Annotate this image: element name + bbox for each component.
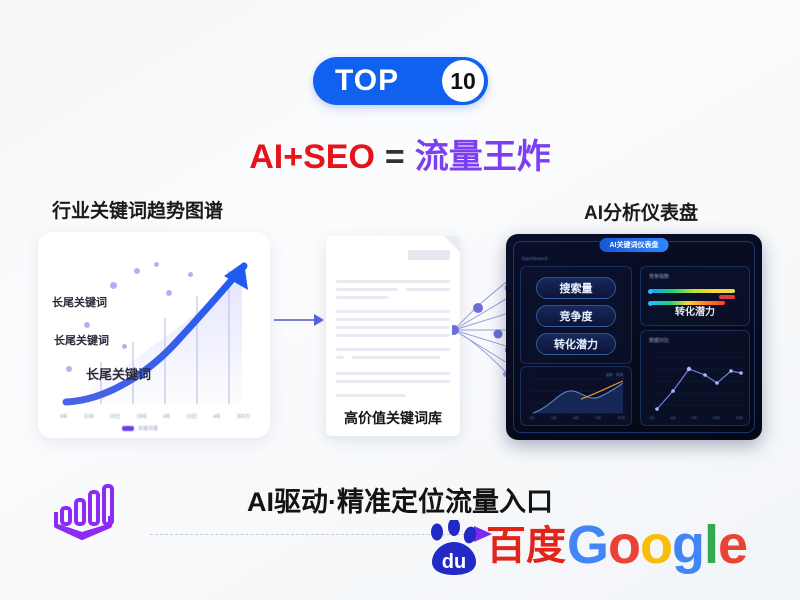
document-text-line	[336, 318, 450, 321]
document-text-line	[336, 394, 406, 397]
headline-right: 流量王炸	[415, 138, 551, 176]
legend-label: 关键词量	[138, 425, 158, 432]
top-badge-label: TOP	[335, 66, 399, 96]
keyword-trend-card: 长尾关键词 长尾关键词 长尾关键词 4年 33年 20亿 18年 4年 10亿 …	[38, 232, 270, 438]
document-text-line	[336, 280, 450, 283]
google-letter-g1: G	[567, 515, 608, 575]
axis-tick: 1月	[649, 416, 654, 421]
baidu-mark-text: du	[442, 551, 466, 573]
document-text-line	[336, 326, 450, 329]
document-text-line	[406, 288, 450, 291]
flow-arrow-icon	[274, 313, 324, 327]
axis-tick: 300万	[237, 413, 250, 420]
trend-dot	[188, 272, 193, 277]
trend-forecast-panel: 趋势 · 预测 1月 3月 6月 9月 12月	[520, 366, 632, 426]
competition-index-title: 竞争指数	[649, 273, 669, 280]
metric-pill-conversion-potential[interactable]: 转化潜力	[536, 333, 616, 355]
google-letter-l: l	[704, 515, 718, 575]
line-axis-ticks: 1月 4月 7月 10月 12月	[649, 416, 743, 421]
data-comparison-panel: 数据对比 1月 4月 7月 10月	[640, 330, 750, 426]
headline-equals: =	[385, 138, 405, 176]
trend-axis-ticks: 4年 33年 20亿 18年 4年 10亿 4年 300万	[60, 413, 250, 420]
bar-marker-dot	[648, 289, 653, 294]
google-letter-o2: o	[640, 515, 672, 575]
top-badge-rank: 10	[442, 60, 484, 102]
document-header-chip	[408, 250, 450, 260]
bar-highlight-chip	[719, 295, 735, 299]
metric-pill-search-volume[interactable]: 搜索量	[536, 277, 616, 299]
axis-tick: 12月	[736, 416, 743, 421]
trend-keyword-label: 长尾关键词	[86, 364, 151, 383]
axis-tick: 18年	[136, 413, 147, 420]
trend-dot	[122, 344, 127, 349]
left-section-caption: 行业关键词趋势图谱	[52, 196, 223, 223]
trend-dot	[66, 366, 72, 372]
baidu-paw-icon: du	[424, 520, 484, 578]
trend-dot	[154, 262, 159, 267]
axis-tick: 10月	[712, 416, 719, 421]
legend-swatch	[122, 426, 134, 431]
conversion-overlay-label: 转化潜力	[641, 303, 749, 318]
headline-left: AI+SEO	[249, 138, 375, 176]
metric-pill-competition[interactable]: 竞争度	[536, 305, 616, 327]
document-text-line	[336, 372, 450, 375]
axis-tick: 9月	[595, 416, 600, 421]
document-text-line	[336, 348, 450, 351]
document-text-line	[352, 356, 440, 359]
axis-tick: 1月	[529, 416, 534, 421]
document-text-line	[336, 380, 450, 383]
document-text-line	[336, 288, 398, 291]
ai-dashboard-card: AI关键词仪表盘 Dashboard 搜索量 竞争度 转化潜力 竞争指数 转化潜…	[506, 234, 762, 440]
document-text-line	[336, 310, 450, 313]
competition-index-panel: 竞争指数 转化潜力	[640, 266, 750, 326]
axis-tick: 33年	[84, 413, 95, 420]
area-legend: 趋势 · 预测	[606, 373, 623, 378]
top-rank-badge: TOP 10	[313, 57, 488, 105]
axis-tick: 6月	[573, 416, 578, 421]
google-letter-o1: o	[608, 515, 640, 575]
trend-dot	[110, 282, 117, 289]
axis-tick: 4年	[163, 413, 171, 420]
keyword-library-document: 高价值关键词库	[326, 236, 460, 436]
poster-canvas: TOP 10 AI+SEO=流量王炸 行业关键词趋势图谱 AI分析仪表盘	[0, 0, 800, 600]
page-title: AI+SEO=流量王炸	[0, 129, 800, 178]
trend-legend: 关键词量	[122, 425, 158, 432]
dashboard-title-badge: AI关键词仪表盘	[600, 238, 669, 252]
axis-tick: 20亿	[110, 413, 121, 420]
trend-dot	[166, 290, 172, 296]
axis-tick: 4月	[670, 416, 675, 421]
google-letter-e: e	[718, 515, 747, 575]
area-axis-ticks: 1月 3月 6月 9月 12月	[529, 416, 625, 421]
axis-tick: 10亿	[187, 413, 198, 420]
baidu-wordmark: 百度	[486, 526, 566, 566]
google-letter-g2: g	[672, 515, 704, 575]
right-section-caption: AI分析仪表盘	[584, 198, 698, 225]
axis-tick: 4年	[60, 413, 68, 420]
trend-keyword-label: 长尾关键词	[54, 332, 109, 348]
axis-tick: 12月	[618, 416, 625, 421]
data-comparison-title: 数据对比	[649, 337, 669, 344]
gradient-bar	[651, 289, 735, 293]
dashboard-subtitle: Dashboard	[522, 256, 548, 261]
google-logo: Google	[567, 518, 747, 572]
document-text-line	[336, 296, 388, 299]
trend-dot	[134, 268, 140, 274]
axis-tick: 3月	[551, 416, 556, 421]
baidu-logo: du 百度	[424, 520, 560, 578]
line-chart	[641, 331, 749, 425]
bottom-slogan: AI驱动·精准定位流量入口	[0, 480, 800, 519]
axis-tick: 7月	[691, 416, 696, 421]
document-text-line	[336, 334, 450, 337]
trend-dot	[84, 322, 90, 328]
axis-tick: 4年	[213, 413, 221, 420]
trend-keyword-label: 长尾关键词	[52, 294, 107, 310]
document-bullet	[336, 356, 344, 359]
document-caption: 高价值关键词库	[326, 408, 460, 428]
metrics-panel: 搜索量 竞争度 转化潜力	[520, 266, 632, 364]
